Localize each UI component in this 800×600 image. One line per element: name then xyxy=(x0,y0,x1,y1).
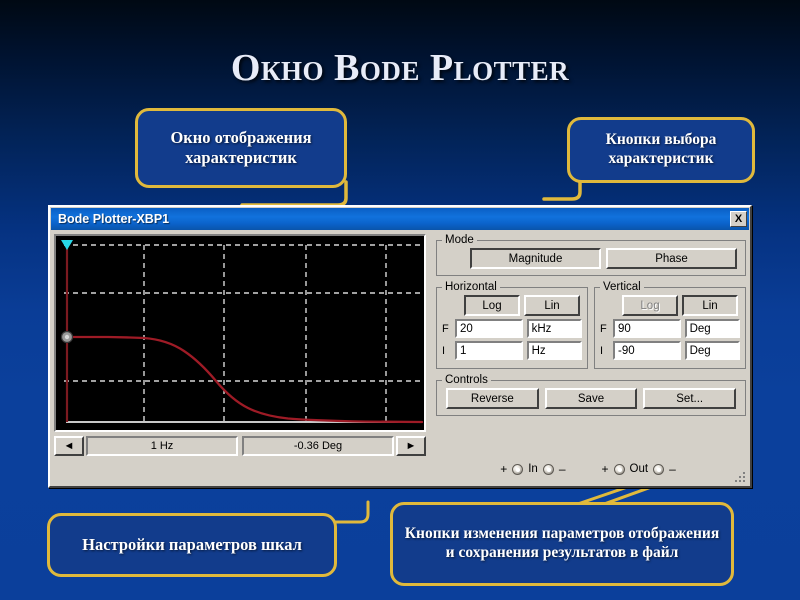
horizontal-final-label: F xyxy=(442,323,455,335)
callout-display-window: Окно отображения характеристик xyxy=(135,108,347,188)
controls-panel: Mode Magnitude Phase Horizontal Log Lin … xyxy=(430,234,746,463)
input-terminals: + In – xyxy=(500,462,565,476)
cursor-prev-button[interactable]: ◄ xyxy=(54,436,84,456)
vertical-final-value[interactable]: 90 xyxy=(613,319,681,338)
graph-panel: ◄ 1 Hz -0.36 Deg ► xyxy=(54,234,430,463)
out-plus-label: + xyxy=(602,462,609,476)
phase-readout: -0.36 Deg xyxy=(242,436,394,456)
horizontal-log-button[interactable]: Log xyxy=(464,295,520,316)
vertical-legend: Vertical xyxy=(600,281,644,293)
in-label: In xyxy=(528,463,538,475)
out-label: Out xyxy=(630,463,649,475)
callout-mode-buttons: Кнопки выбора характеристик xyxy=(567,117,755,183)
reverse-button[interactable]: Reverse xyxy=(446,388,539,409)
vertical-final-unit[interactable]: Deg xyxy=(685,319,740,338)
horizontal-initial-unit[interactable]: Hz xyxy=(527,341,582,360)
out-minus-label: – xyxy=(669,462,676,476)
horizontal-final-value[interactable]: 20 xyxy=(455,319,523,338)
horizontal-group: Horizontal Log Lin F 20 kHz I 1 Hz xyxy=(436,281,588,369)
set-button[interactable]: Set... xyxy=(643,388,736,409)
vertical-initial-value[interactable]: -90 xyxy=(613,341,681,360)
controls-legend: Controls xyxy=(442,374,491,386)
out-minus-terminal-icon[interactable] xyxy=(653,464,664,475)
callout-mode-text: Кнопки выбора характеристик xyxy=(580,131,742,169)
window-titlebar[interactable]: Bode Plotter-XBP1 X xyxy=(51,208,749,230)
vertical-initial-label: I xyxy=(600,345,613,357)
horizontal-lin-button[interactable]: Lin xyxy=(524,295,580,316)
in-minus-terminal-icon[interactable] xyxy=(543,464,554,475)
save-button[interactable]: Save xyxy=(545,388,638,409)
out-plus-terminal-icon[interactable] xyxy=(614,464,625,475)
horizontal-initial-value[interactable]: 1 xyxy=(455,341,523,360)
callout-display-text: Окно отображения характеристик xyxy=(148,128,334,168)
in-plus-label: + xyxy=(500,462,507,476)
terminal-row: + In – + Out – xyxy=(430,456,746,482)
vertical-lin-button[interactable]: Lin xyxy=(682,295,738,316)
frequency-readout: 1 Hz xyxy=(86,436,238,456)
callout-control-buttons: Кнопки изменения параметров отображения … xyxy=(390,502,734,586)
horizontal-legend: Horizontal xyxy=(442,281,500,293)
callout-scale-settings: Настройки параметров шкал xyxy=(47,513,337,577)
phase-button[interactable]: Phase xyxy=(606,248,737,269)
bode-chart xyxy=(56,236,424,430)
in-plus-terminal-icon[interactable] xyxy=(512,464,523,475)
horizontal-final-unit[interactable]: kHz xyxy=(527,319,582,338)
callout-scales-text: Настройки параметров шкал xyxy=(82,535,302,555)
cursor-next-button[interactable]: ► xyxy=(396,436,426,456)
vertical-initial-unit[interactable]: Deg xyxy=(685,341,740,360)
controls-group: Controls Reverse Save Set... xyxy=(436,374,746,416)
close-icon[interactable]: X xyxy=(730,211,747,227)
horizontal-initial-label: I xyxy=(442,345,455,357)
plot-area[interactable] xyxy=(54,234,426,432)
vertical-final-label: F xyxy=(600,323,613,335)
window-title: Bode Plotter-XBP1 xyxy=(58,212,730,226)
vertical-log-button[interactable]: Log xyxy=(622,295,678,316)
in-minus-label: – xyxy=(559,462,566,476)
output-terminals: + Out – xyxy=(602,462,676,476)
page-title: Окно Bode Plotter xyxy=(0,46,800,90)
resize-grip-icon[interactable] xyxy=(733,470,747,484)
bode-plotter-window: Bode Plotter-XBP1 X xyxy=(48,205,752,488)
vertical-group: Vertical Log Lin F 90 Deg I -90 Deg xyxy=(594,281,746,369)
status-bar: ◄ 1 Hz -0.36 Deg ► xyxy=(54,436,426,456)
callout-controls-text: Кнопки изменения параметров отображения … xyxy=(403,525,721,563)
mode-legend: Mode xyxy=(442,234,477,246)
mode-group: Mode Magnitude Phase xyxy=(436,234,746,276)
magnitude-button[interactable]: Magnitude xyxy=(470,248,601,269)
